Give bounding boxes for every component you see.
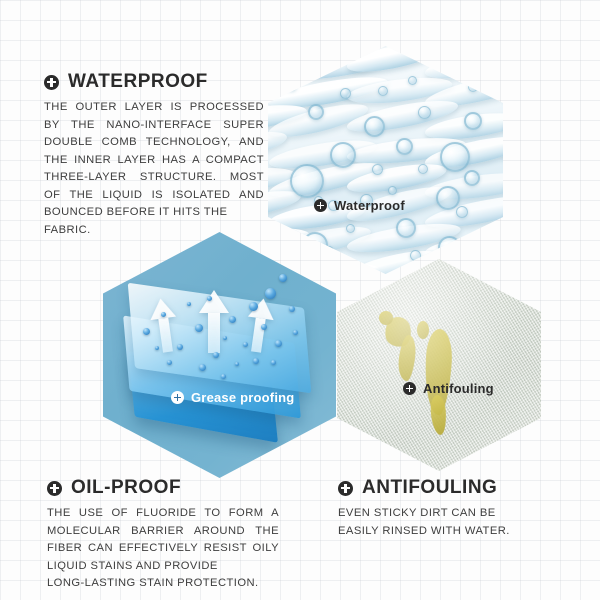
body-text: EVEN STICKY DIRT CAN BE	[338, 507, 496, 519]
plus-circle-icon	[44, 75, 59, 90]
waterproof-heading: WATERPROOF	[44, 72, 264, 92]
label-text: Antifouling	[423, 381, 494, 396]
heading-text: WATERPROOF	[68, 72, 208, 92]
antifouling-image-label: Antifouling	[403, 381, 494, 396]
waterproof-artwork	[268, 46, 503, 274]
plus-circle-icon	[171, 391, 184, 404]
infographic-canvas: Waterproof Grease proofing Antifouling	[0, 0, 600, 600]
antifouling-heading: ANTIFOULING	[338, 478, 546, 498]
greaseproofing-hex-image: Grease proofing	[103, 232, 336, 478]
waterproof-hex-image: Waterproof	[268, 46, 503, 274]
waterproof-text-block: WATERPROOF THE OUTER LAYER IS PROCESSED …	[44, 72, 264, 239]
cloth-sheen	[337, 259, 541, 471]
waterproof-image-label: Waterproof	[314, 198, 405, 213]
waterproof-body: THE OUTER LAYER IS PROCESSED BY THE NANO…	[44, 99, 264, 239]
antifouling-artwork	[337, 259, 541, 471]
label-text: Grease proofing	[191, 390, 294, 405]
greaseproofing-image-label: Grease proofing	[171, 390, 294, 405]
body-text-last-line: FABRIC.	[44, 222, 264, 240]
body-text-last-line: EASILY RINSED WITH WATER.	[338, 523, 546, 541]
antifouling-text-block: ANTIFOULING EVEN STICKY DIRT CAN BE EASI…	[338, 478, 546, 540]
body-text: THE USE OF FLUORIDE TO FORM A MOLECULAR …	[47, 507, 279, 572]
greaseproofing-artwork	[103, 232, 336, 478]
plus-circle-icon	[403, 382, 416, 395]
plus-circle-icon	[47, 481, 62, 496]
antifouling-body: EVEN STICKY DIRT CAN BE EASILY RINSED WI…	[338, 505, 546, 540]
oilproof-heading: OIL-PROOF	[47, 478, 279, 498]
oilproof-text-block: OIL-PROOF THE USE OF FLUORIDE TO FORM A …	[47, 478, 279, 593]
plus-circle-icon	[314, 199, 327, 212]
plus-circle-icon	[338, 481, 353, 496]
body-text: THE OUTER LAYER IS PROCESSED BY THE NANO…	[44, 101, 264, 218]
heading-text: ANTIFOULING	[362, 478, 497, 498]
label-text: Waterproof	[334, 198, 405, 213]
heading-text: OIL-PROOF	[71, 478, 181, 498]
body-text-last-line: LONG-LASTING STAIN PROTECTION.	[47, 575, 279, 593]
antifouling-hex-image: Antifouling	[337, 259, 541, 471]
oilproof-body: THE USE OF FLUORIDE TO FORM A MOLECULAR …	[47, 505, 279, 593]
